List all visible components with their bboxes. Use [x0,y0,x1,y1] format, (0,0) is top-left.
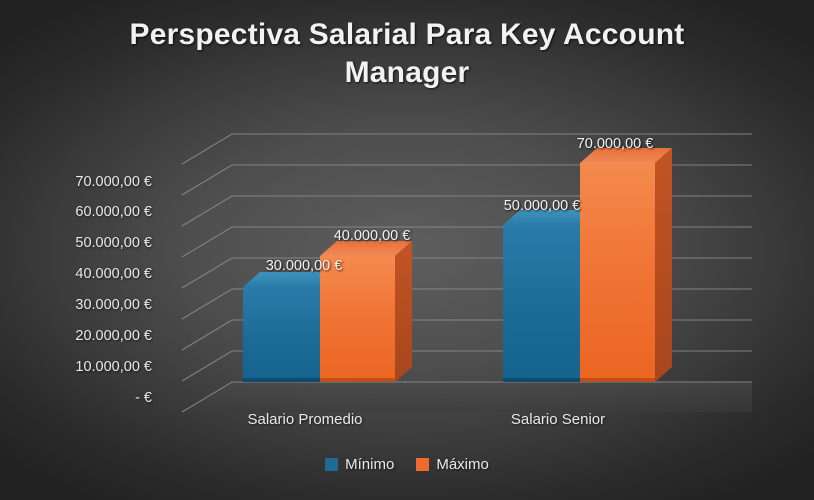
legend-swatch-maximo-icon [416,458,429,471]
y-tick-70000: 70.000,00 € [32,174,152,190]
chart-floor [182,382,752,412]
data-label-senior-minimo: 50.000,00 € [457,198,627,214]
y-tick-40000: 40.000,00 € [32,266,152,282]
data-label-promedio-maximo: 40.000,00 € [287,228,457,244]
bar-salario-senior-maximo[interactable] [580,148,672,382]
legend-label-maximo: Máximo [436,456,489,473]
x-tick-salario-senior: Salario Senior [458,411,658,428]
y-tick-50000: 50.000,00 € [32,235,152,251]
y-axis: 70.000,00 € 60.000,00 € 50.000,00 € 40.0… [32,0,152,500]
y-tick-30000: 30.000,00 € [32,297,152,313]
y-tick-10000: 10.000,00 € [32,359,152,375]
legend-item-minimo[interactable]: Mínimo [325,456,394,473]
y-tick-0: - € [32,390,152,406]
chart-slide: Perspectiva Salarial Para Key Account Ma… [0,0,814,500]
y-tick-20000: 20.000,00 € [32,328,152,344]
legend-label-minimo: Mínimo [345,456,394,473]
data-label-promedio-minimo: 30.000,00 € [219,258,389,274]
legend-item-maximo[interactable]: Máximo [416,456,489,473]
legend-swatch-minimo-icon [325,458,338,471]
y-tick-60000: 60.000,00 € [32,204,152,220]
x-tick-salario-promedio: Salario Promedio [205,411,405,428]
chart-legend: Mínimo Máximo [0,456,814,473]
data-label-senior-maximo: 70.000,00 € [530,136,700,152]
